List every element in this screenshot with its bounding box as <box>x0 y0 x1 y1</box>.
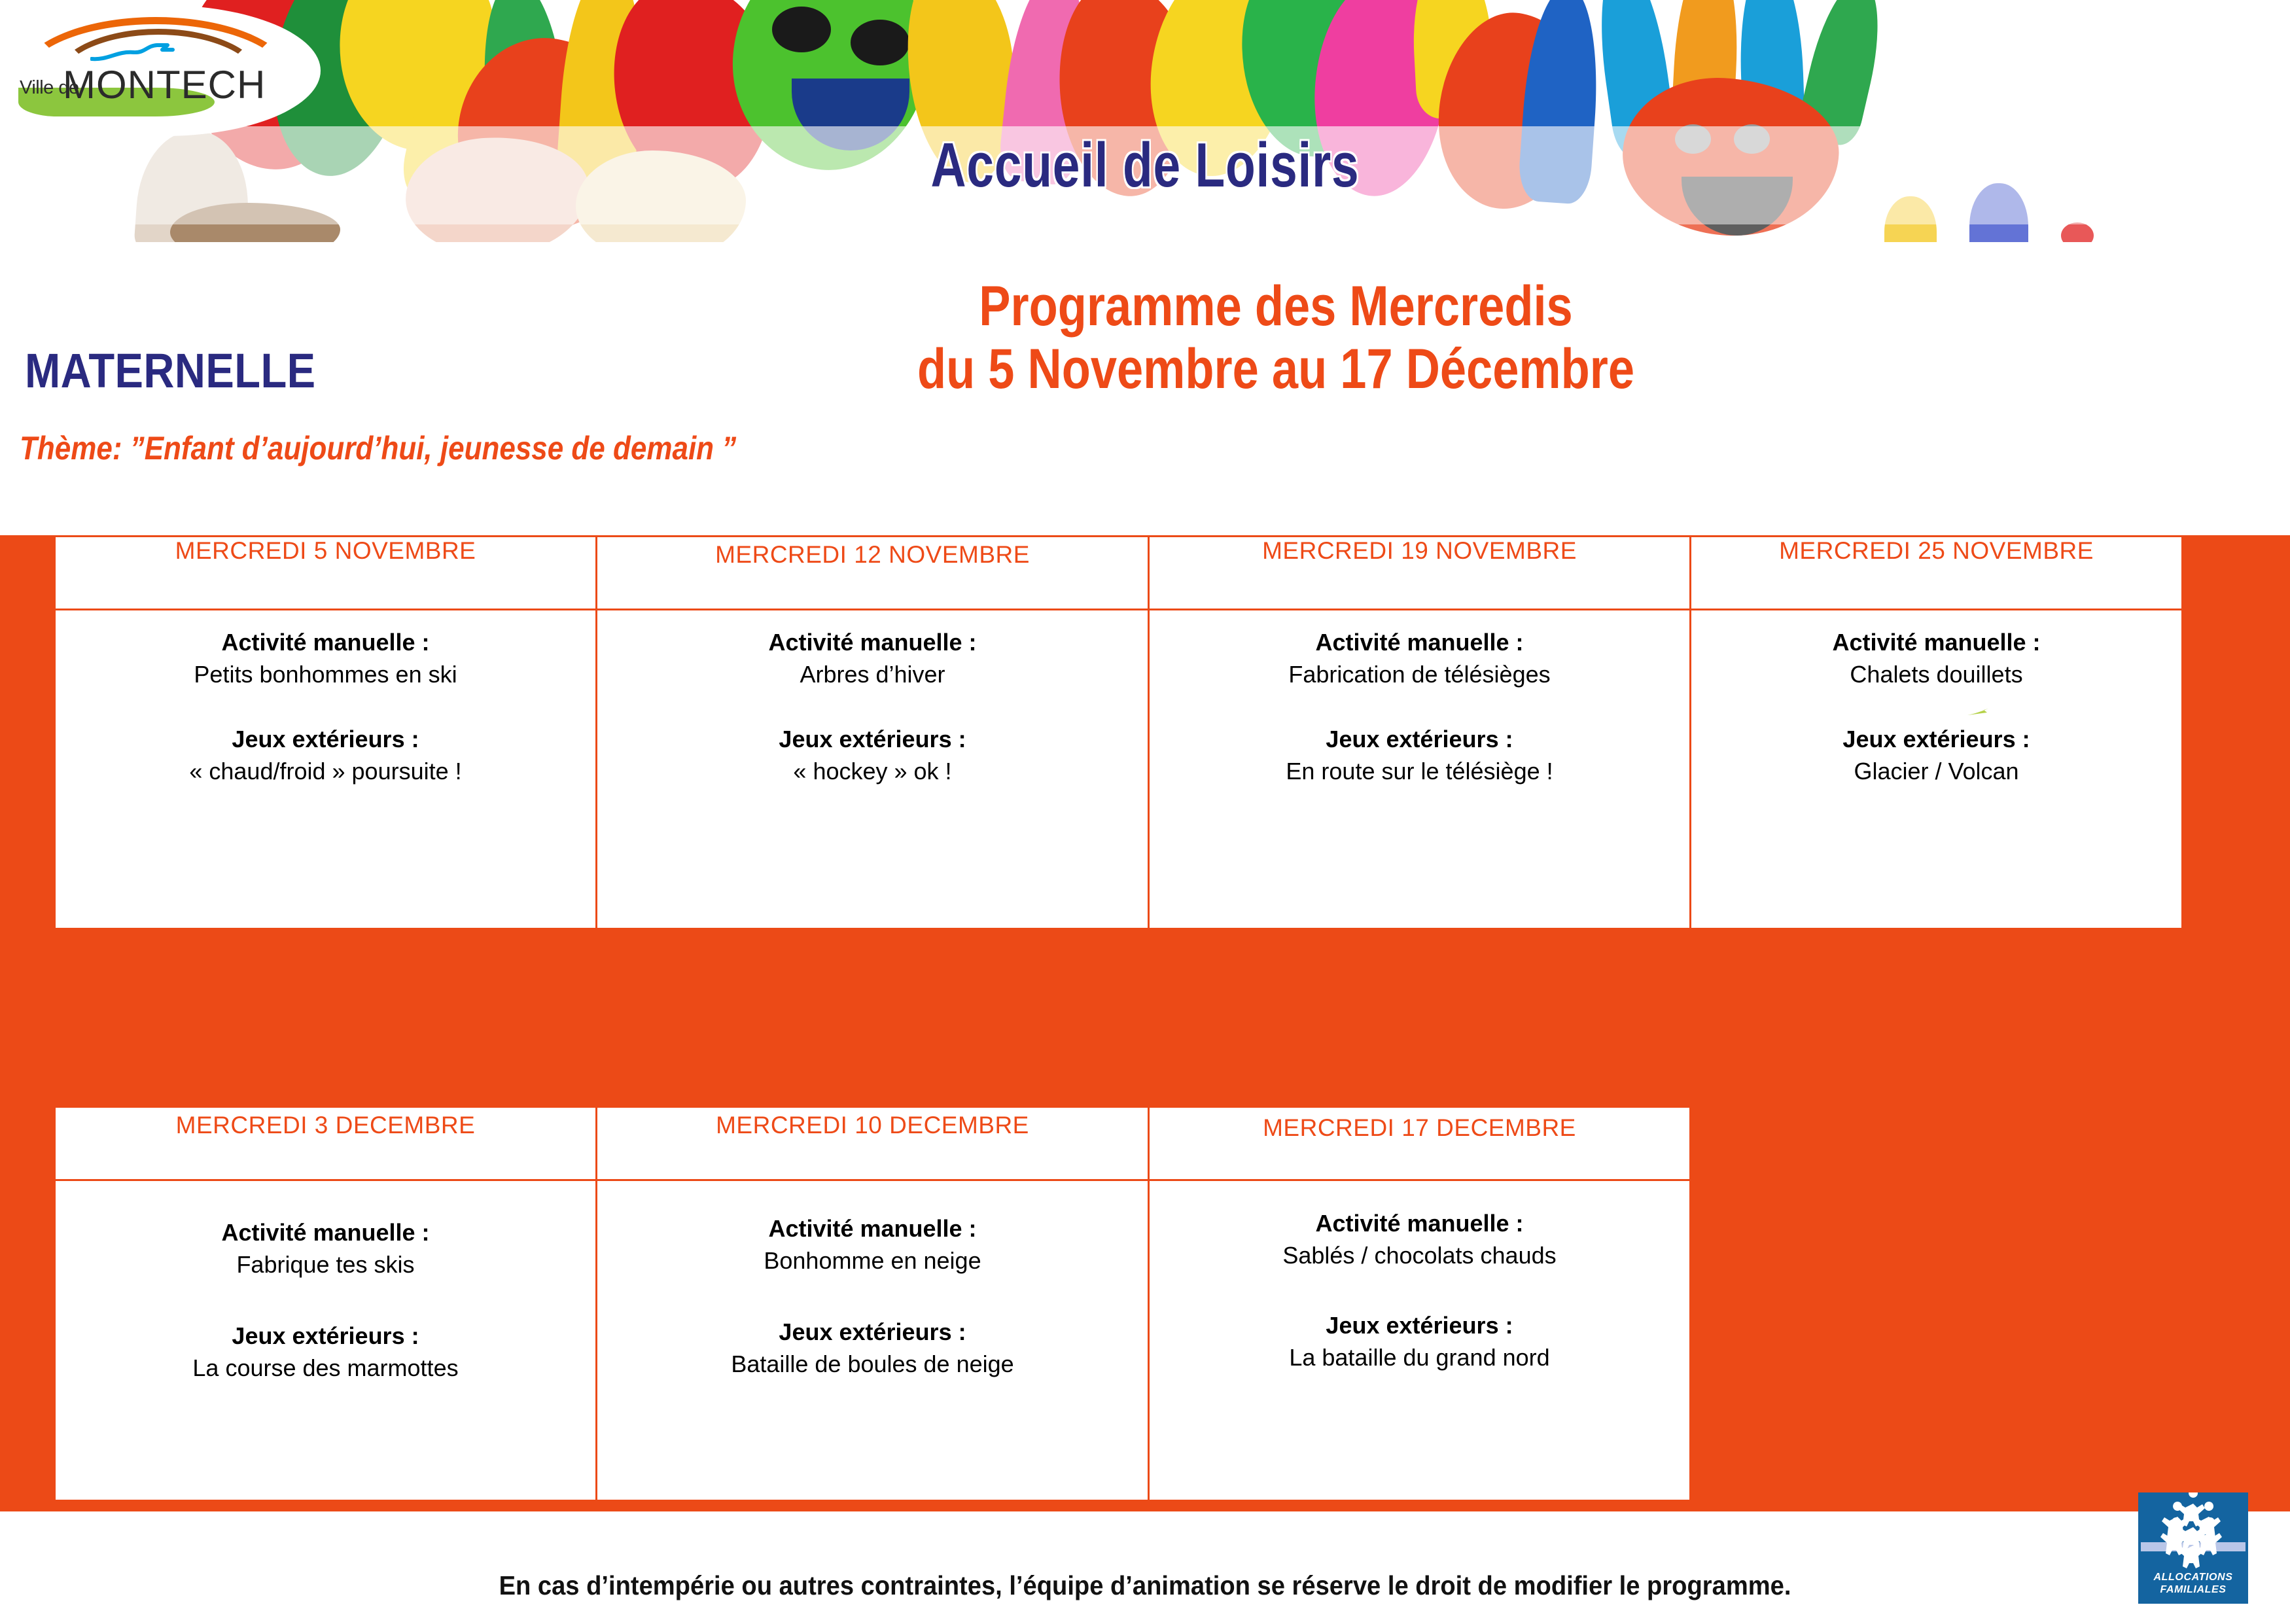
day-header-cell: MERCREDI 10 DECEMBRE <box>597 1107 1149 1180</box>
activity-title: Activité manuelle : <box>56 1218 595 1248</box>
activity-value: Fabrication de télésièges <box>1150 658 1689 692</box>
logo-montech-text: MONTECH <box>63 62 266 107</box>
program-title-line1: Programme des Mercredis <box>699 275 1853 338</box>
day-header-cell: MERCREDI 5 NOVEMBRE <box>55 537 597 610</box>
table-header-row: MERCREDI 3 DECEMBRE MERCREDI 10 DECEMBRE… <box>55 1107 1691 1180</box>
program-title: Programme des Mercredis du 5 Novembre au… <box>699 275 1853 400</box>
december-schedule-table: MERCREDI 3 DECEMBRE MERCREDI 10 DECEMBRE… <box>54 1106 1691 1502</box>
caf-logo-line1: ALLOCATIONS <box>2138 1571 2248 1583</box>
games-value: « hockey » ok ! <box>597 754 1148 788</box>
day-content-cell: Activité manuelle : Chalets douillets Je… <box>1691 610 2183 929</box>
day-content-cell: Activité manuelle : Fabrique tes skis Je… <box>55 1180 597 1501</box>
day-content-cell: Activité manuelle : Fabrication de télés… <box>1149 610 1691 929</box>
day-header-label: MERCREDI 25 NOVEMBRE <box>1779 537 2094 564</box>
day-header-label: MERCREDI 3 DECEMBRE <box>176 1112 476 1139</box>
games-title: Jeux extérieurs : <box>56 724 595 754</box>
day-header-cell: MERCREDI 3 DECEMBRE <box>55 1107 597 1180</box>
caf-logo-line2: FAMILIALES <box>2138 1583 2248 1596</box>
day-content-cell: Activité manuelle : Petits bonhommes en … <box>55 610 597 929</box>
day-header-cell: MERCREDI 17 DECEMBRE <box>1149 1107 1691 1180</box>
montech-logo: Ville de MONTECH <box>7 5 321 136</box>
activity-title: Activité manuelle : <box>597 1214 1148 1244</box>
activity-value: Petits bonhommes en ski <box>56 658 595 692</box>
day-content-cell: Activité manuelle : Arbres d’hiver Jeux … <box>597 610 1149 929</box>
day-header-cell: MERCREDI 12 NOVEMBRE <box>597 537 1149 610</box>
table-header-row: MERCREDI 5 NOVEMBRE MERCREDI 12 NOVEMBRE… <box>55 537 2183 610</box>
banner-white-band-lower <box>0 224 2290 242</box>
games-title: Jeux extérieurs : <box>597 724 1148 754</box>
games-value: La course des marmottes <box>56 1351 595 1385</box>
activity-value: Fabrique tes skis <box>56 1248 595 1282</box>
day-header-cell: MERCREDI 25 NOVEMBRE <box>1691 537 2183 610</box>
games-value: Bataille de boules de neige <box>597 1347 1148 1381</box>
table-body-row: Activité manuelle : Petits bonhommes en … <box>55 610 2183 929</box>
header-banner: Ville de MONTECH Accueil de Loisirs <box>0 0 2290 242</box>
games-title: Jeux extérieurs : <box>56 1321 595 1351</box>
footer-disclaimer: En cas d’intempérie ou autres contrainte… <box>80 1570 2210 1601</box>
banner-title: Accueil de Loisirs <box>252 134 2038 197</box>
caf-logo-text: ALLOCATIONS FAMILIALES <box>2138 1571 2248 1596</box>
caf-logo: ALLOCATIONS FAMILIALES <box>2138 1492 2248 1604</box>
day-content-cell: Activité manuelle : Sablés / chocolats c… <box>1149 1180 1691 1501</box>
games-value: En route sur le télésiège ! <box>1150 754 1689 788</box>
activity-value: Sablés / chocolats chauds <box>1150 1239 1689 1273</box>
day-header-label: MERCREDI 5 NOVEMBRE <box>175 537 476 564</box>
theme-label: Thème: ”Enfant d’aujourd’hui, jeunesse d… <box>20 432 736 465</box>
day-header-cell: MERCREDI 19 NOVEMBRE <box>1149 537 1691 610</box>
audience-label: MATERNELLE <box>25 347 316 395</box>
day-header-label: MERCREDI 12 NOVEMBRE <box>715 541 1030 568</box>
table-body-row: Activité manuelle : Fabrique tes skis Je… <box>55 1180 1691 1501</box>
day-header-label: MERCREDI 17 DECEMBRE <box>1263 1114 1576 1141</box>
activity-value: Arbres d’hiver <box>597 658 1148 692</box>
activity-value: Chalets douillets <box>1691 658 2181 692</box>
games-title: Jeux extérieurs : <box>597 1317 1148 1347</box>
day-header-label: MERCREDI 19 NOVEMBRE <box>1262 537 1577 564</box>
day-content-cell: Activité manuelle : Bonhomme en neige Je… <box>597 1180 1149 1501</box>
games-title: Jeux extérieurs : <box>1150 1311 1689 1341</box>
games-value: La bataille du grand nord <box>1150 1341 1689 1375</box>
program-title-line2: du 5 Novembre au 17 Décembre <box>699 338 1853 400</box>
activity-value: Bonhomme en neige <box>597 1244 1148 1278</box>
november-schedule-table: MERCREDI 5 NOVEMBRE MERCREDI 12 NOVEMBRE… <box>54 535 2183 930</box>
green-arrow-mark-icon <box>1967 708 1989 717</box>
games-title: Jeux extérieurs : <box>1150 724 1689 754</box>
logo-river-icon <box>90 41 182 63</box>
activity-title: Activité manuelle : <box>1150 627 1689 658</box>
activity-title: Activité manuelle : <box>597 627 1148 658</box>
games-value: « chaud/froid » poursuite ! <box>56 754 595 788</box>
games-title: Jeux extérieurs : <box>1691 724 2181 754</box>
day-header-label: MERCREDI 10 DECEMBRE <box>716 1112 1029 1139</box>
activity-title: Activité manuelle : <box>56 627 595 658</box>
activity-title: Activité manuelle : <box>1150 1209 1689 1239</box>
games-value: Glacier / Volcan <box>1691 754 2181 788</box>
caf-people-icon <box>2138 1492 2248 1571</box>
activity-title: Activité manuelle : <box>1691 627 2181 658</box>
